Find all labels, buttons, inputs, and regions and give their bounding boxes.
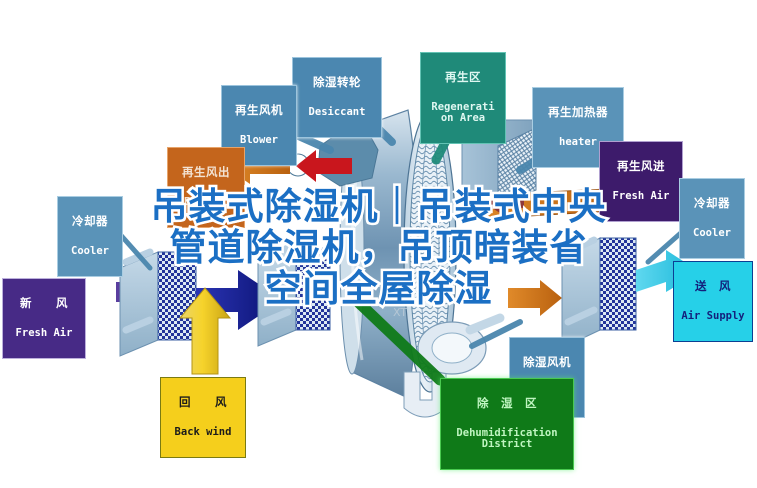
label-cn: 冷却器 — [62, 216, 118, 228]
label-cn: 除 湿 区 — [445, 398, 569, 410]
label-en: Air Supply — [678, 311, 748, 322]
label-fresh-air-in[interactable]: 新 风 Fresh Air — [2, 278, 86, 359]
label-cn: 回 风 — [165, 397, 241, 409]
label-cn: 送 风 — [678, 281, 748, 293]
label-desiccant-wheel[interactable]: 除湿转轮 Desiccant — [292, 57, 382, 138]
label-en: Desiccant — [297, 107, 377, 118]
label-en: Fresh Air — [604, 191, 678, 202]
label-en: Fresh Air — [7, 328, 81, 339]
right-coil-module — [562, 238, 636, 348]
label-en: Blower — [226, 135, 292, 146]
label-cn: 再生区 — [425, 72, 501, 84]
label-cn: 再生风进 — [604, 161, 678, 173]
label-dehumidification-district[interactable]: 除 湿 区 Dehumidification District — [440, 378, 574, 470]
label-regeneration-air-in[interactable]: 再生风进 Fresh Air — [599, 141, 683, 222]
label-cn: 再生加热器 — [537, 107, 619, 119]
left-coil-module-1 — [120, 252, 196, 356]
label-en: Dehumidification District — [445, 428, 569, 450]
dehumidifier-diagram: XT — [0, 0, 757, 488]
label-en: Cooler — [62, 246, 118, 257]
label-cn: 除湿风机 — [514, 357, 580, 369]
left-coil-module-2 — [258, 248, 330, 346]
label-cn: 冷却器 — [684, 198, 740, 210]
svg-text:XT: XT — [393, 306, 407, 319]
label-en: Exhaust — [172, 197, 240, 208]
label-back-wind[interactable]: 回 风 Back wind — [160, 377, 246, 458]
label-cooler-right[interactable]: 冷却器 Cooler — [679, 178, 745, 259]
label-regeneration-area[interactable]: 再生区 Regenerati on Area — [420, 52, 506, 144]
label-cn: 新 风 — [7, 298, 81, 310]
label-cn: 再生风机 — [226, 105, 292, 117]
label-en: Cooler — [684, 228, 740, 239]
label-en: Regenerati on Area — [425, 102, 501, 124]
label-regeneration-exhaust[interactable]: 再生风出 Exhaust — [167, 147, 245, 228]
label-en: Back wind — [165, 427, 241, 438]
label-cn: 除湿转轮 — [297, 77, 377, 89]
label-air-supply[interactable]: 送 风 Air Supply — [673, 261, 753, 342]
supply-orange-arrow — [508, 280, 562, 316]
label-cn: 再生风出 — [172, 167, 240, 179]
label-cooler-left[interactable]: 冷却器 Cooler — [57, 196, 123, 277]
